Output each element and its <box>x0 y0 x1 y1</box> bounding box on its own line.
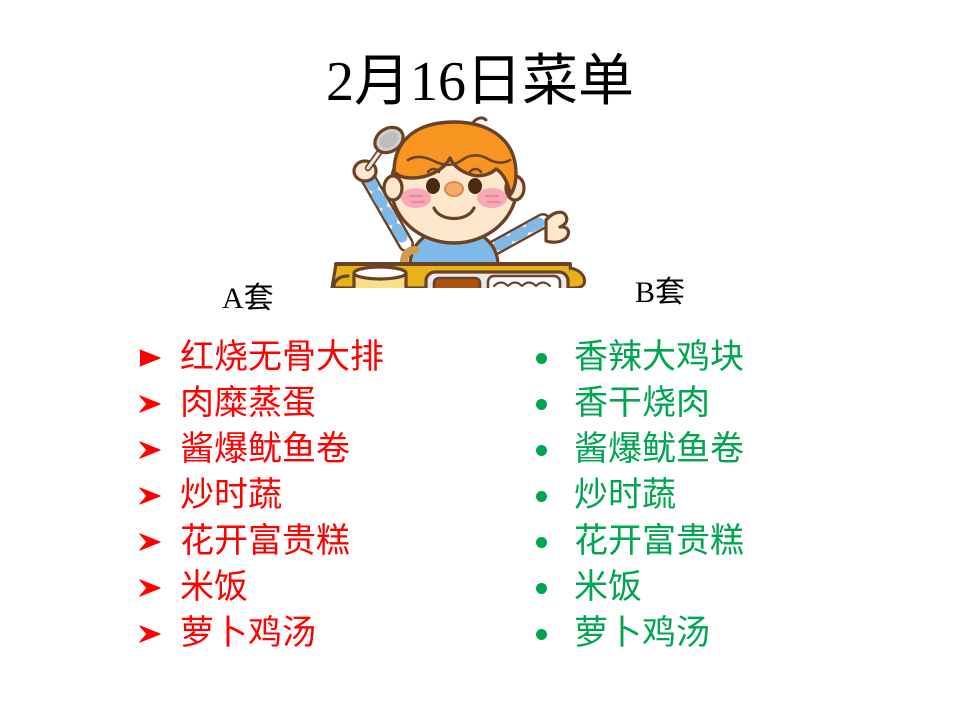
menu-item: 香辣大鸡块 <box>528 336 888 382</box>
menu-item: 萝卜鸡汤 <box>528 612 888 658</box>
menu-item: 香干烧肉 <box>528 382 888 428</box>
menu-item-label: 花开富贵糕 <box>180 520 350 564</box>
clipart-svg <box>318 116 586 288</box>
menu-item-label: 萝卜鸡汤 <box>574 612 710 656</box>
child-eating-meal-clipart <box>318 116 586 288</box>
arrow-bullet-icon <box>138 612 180 656</box>
arrow-bullet-icon <box>138 520 180 564</box>
menu-item-label: 炒时蔬 <box>574 474 676 518</box>
arrow-bullet-icon <box>138 336 180 380</box>
dot-bullet-icon <box>528 382 574 426</box>
table-with-food <box>332 264 584 288</box>
head <box>384 118 524 243</box>
menu-item-label: 红烧无骨大排 <box>180 336 384 380</box>
menu-slide: 2月16日菜单 <box>0 0 960 720</box>
menu-item-label: 肉糜蒸蛋 <box>180 382 316 426</box>
menu-item: 肉糜蒸蛋 <box>138 382 498 428</box>
dot-bullet-icon <box>528 612 574 656</box>
dot-bullet-icon <box>528 520 574 564</box>
page-title: 2月16日菜单 <box>0 50 960 114</box>
dot-bullet-icon <box>528 474 574 518</box>
menu-item: 酱爆鱿鱼卷 <box>138 428 498 474</box>
menu-item-label: 萝卜鸡汤 <box>180 612 316 656</box>
menu-item: 红烧无骨大排 <box>138 336 498 382</box>
menu-item-label: 米饭 <box>574 566 642 610</box>
menu-item: 萝卜鸡汤 <box>138 612 498 658</box>
dot-bullet-icon <box>528 566 574 610</box>
menu-item: 酱爆鱿鱼卷 <box>528 428 888 474</box>
menu-item: 炒时蔬 <box>528 474 888 520</box>
menu-item: 花开富贵糕 <box>528 520 888 566</box>
menu-item-label: 花开富贵糕 <box>574 520 744 564</box>
dot-bullet-icon <box>528 336 574 380</box>
menu-item: 花开富贵糕 <box>138 520 498 566</box>
column-header-set-b: B套 <box>635 275 685 311</box>
food-tray <box>426 272 568 288</box>
menu-item: 米饭 <box>528 566 888 612</box>
menu-item-label: 香干烧肉 <box>574 382 710 426</box>
column-header-set-a: A套 <box>222 281 274 317</box>
arrow-bullet-icon <box>138 566 180 610</box>
menu-item-label: 酱爆鱿鱼卷 <box>574 428 744 472</box>
menu-list-set-b: 香辣大鸡块 香干烧肉 酱爆鱿鱼卷 炒时蔬 花开富贵糕 米饭 萝卜鸡汤 <box>528 336 888 658</box>
menu-item-label: 香辣大鸡块 <box>574 336 744 380</box>
menu-list-set-a: 红烧无骨大排 肉糜蒸蛋 酱爆鱿鱼卷 炒时蔬 <box>138 336 498 658</box>
dot-bullet-icon <box>528 428 574 472</box>
menu-item-label: 炒时蔬 <box>180 474 282 518</box>
menu-item-label: 酱爆鱿鱼卷 <box>180 428 350 472</box>
menu-item: 炒时蔬 <box>138 474 498 520</box>
arrow-bullet-icon <box>138 474 180 518</box>
arrow-bullet-icon <box>138 428 180 472</box>
arrow-bullet-icon <box>138 382 180 426</box>
menu-item: 米饭 <box>138 566 498 612</box>
menu-item-label: 米饭 <box>180 566 248 610</box>
